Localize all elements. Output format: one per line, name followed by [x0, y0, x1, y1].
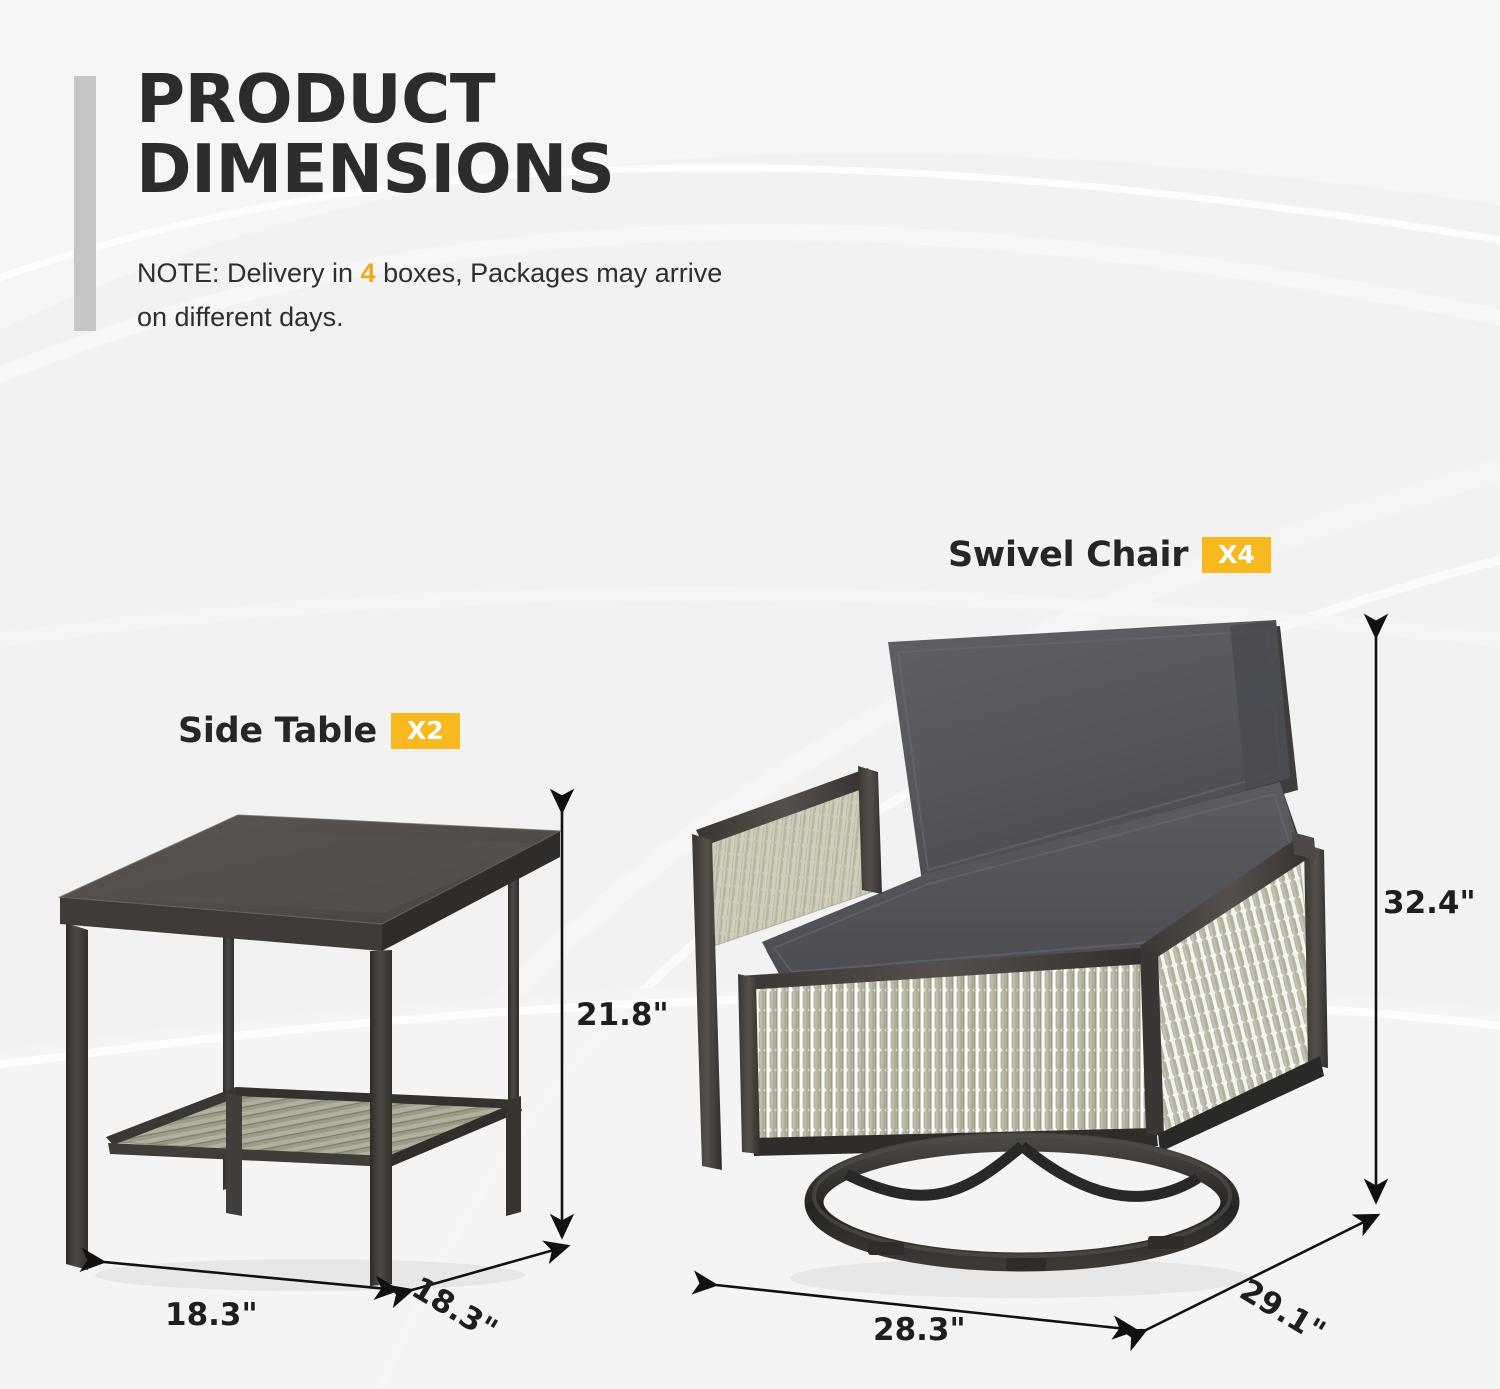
side-table-illustration [40, 775, 580, 1295]
product-name-side-table: Side Table [178, 711, 377, 751]
swivel-chair-illustration [670, 590, 1370, 1310]
chair-swivel-base [814, 1136, 1230, 1271]
quantity-badge-side-table: X2 [391, 713, 460, 749]
dimension-label-table-height: 21.8" [576, 997, 669, 1033]
note-prefix: NOTE: Delivery in [137, 258, 361, 288]
product-name-swivel-chair: Swivel Chair [948, 535, 1188, 575]
dimension-label-table-width: 18.3" [165, 1297, 258, 1333]
product-label-swivel-chair: Swivel Chair X4 [948, 535, 1271, 575]
header: PRODUCT DIMENSIONS NOTE: Delivery in 4 b… [0, 0, 760, 360]
dimension-label-chair-width: 28.3" [873, 1312, 966, 1348]
product-label-side-table: Side Table X2 [178, 711, 460, 751]
table-lower-shelf [106, 1087, 522, 1167]
chair-left-arm-cap [858, 766, 882, 894]
dimension-label-chair-height: 32.4" [1383, 885, 1476, 921]
page-title-line2: DIMENSIONS [136, 134, 756, 204]
chair-front-rope-panel [738, 948, 1158, 1156]
page-title-line1: PRODUCT [136, 64, 756, 134]
note-box-count: 4 [361, 258, 376, 288]
delivery-note: NOTE: Delivery in 4 boxes, Packages may … [137, 252, 737, 339]
table-top [60, 815, 560, 951]
quantity-badge-swivel-chair: X4 [1202, 537, 1271, 573]
title-accent-bar [74, 76, 96, 331]
page-title: PRODUCT DIMENSIONS [136, 64, 756, 205]
